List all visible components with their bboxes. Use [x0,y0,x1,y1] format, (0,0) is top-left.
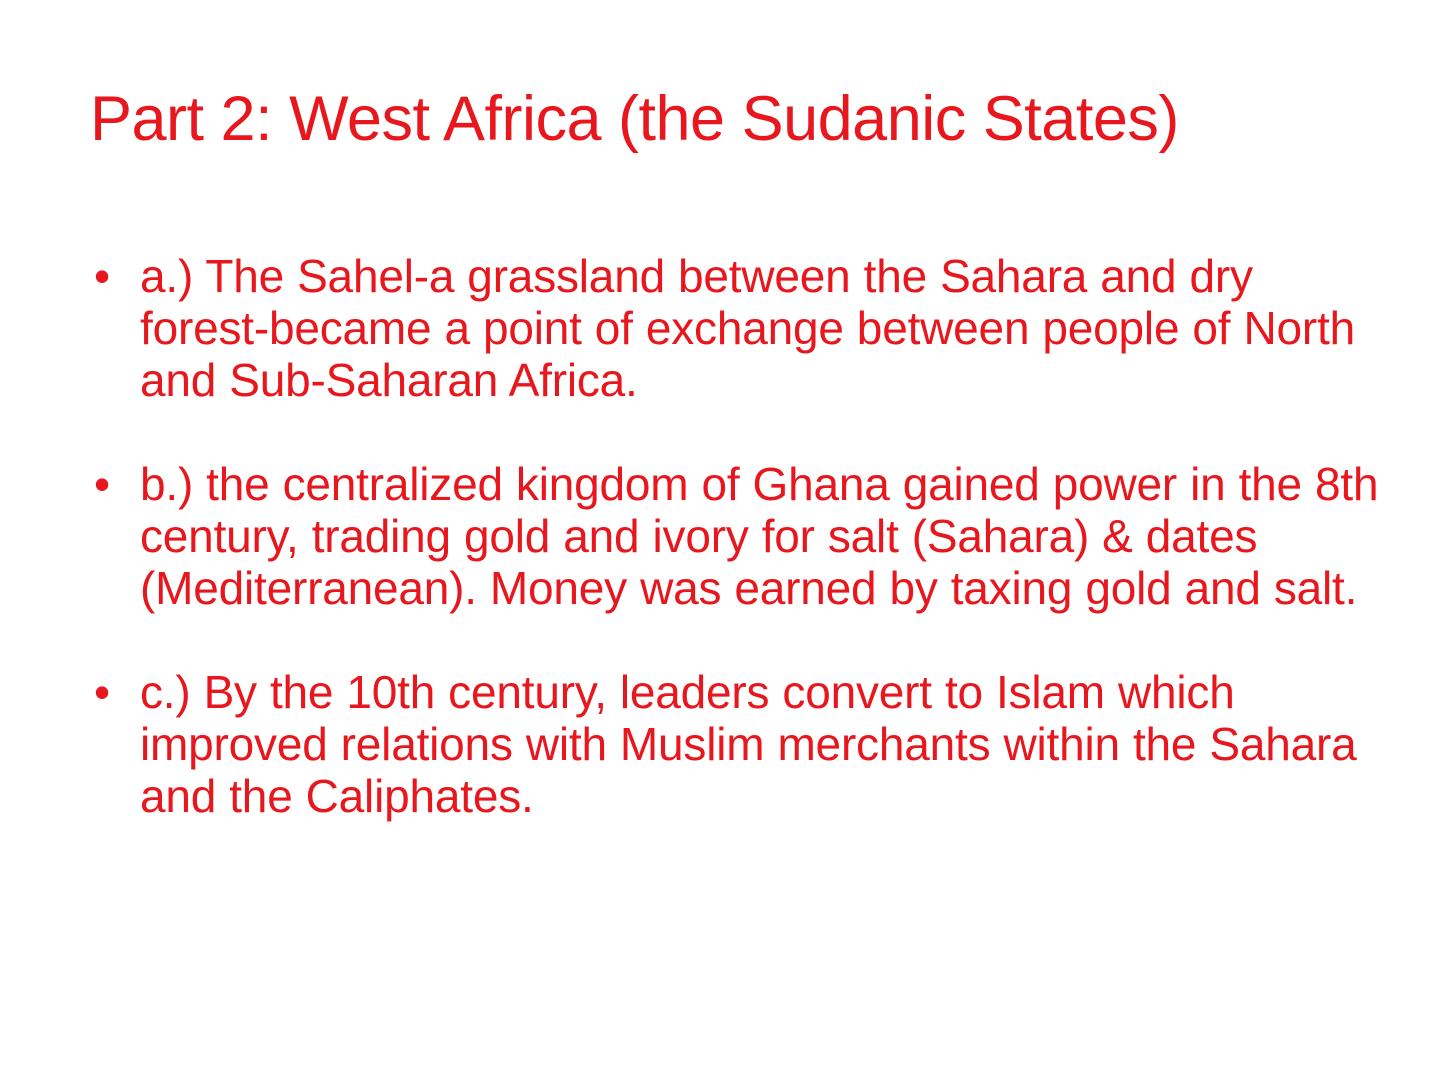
bullet-dot-icon: • [90,458,140,510]
slide-canvas: Part 2: West Africa (the Sudanic States)… [0,0,1440,1080]
list-item: • a.) The Sahel-a grassland between the … [90,250,1380,406]
page-title: Part 2: West Africa (the Sudanic States) [90,86,1380,153]
list-item: • b.) the centralized kingdom of Ghana g… [90,458,1380,614]
bullet-dot-icon: • [90,666,140,718]
list-item-text: b.) the centralized kingdom of Ghana gai… [140,458,1380,614]
bullet-dot-icon: • [90,250,140,302]
list-item-text: a.) The Sahel-a grassland between the Sa… [140,250,1380,406]
bullet-list: • a.) The Sahel-a grassland between the … [90,250,1380,822]
list-item: • c.) By the 10th century, leaders conve… [90,666,1380,822]
list-item-text: c.) By the 10th century, leaders convert… [140,666,1380,822]
